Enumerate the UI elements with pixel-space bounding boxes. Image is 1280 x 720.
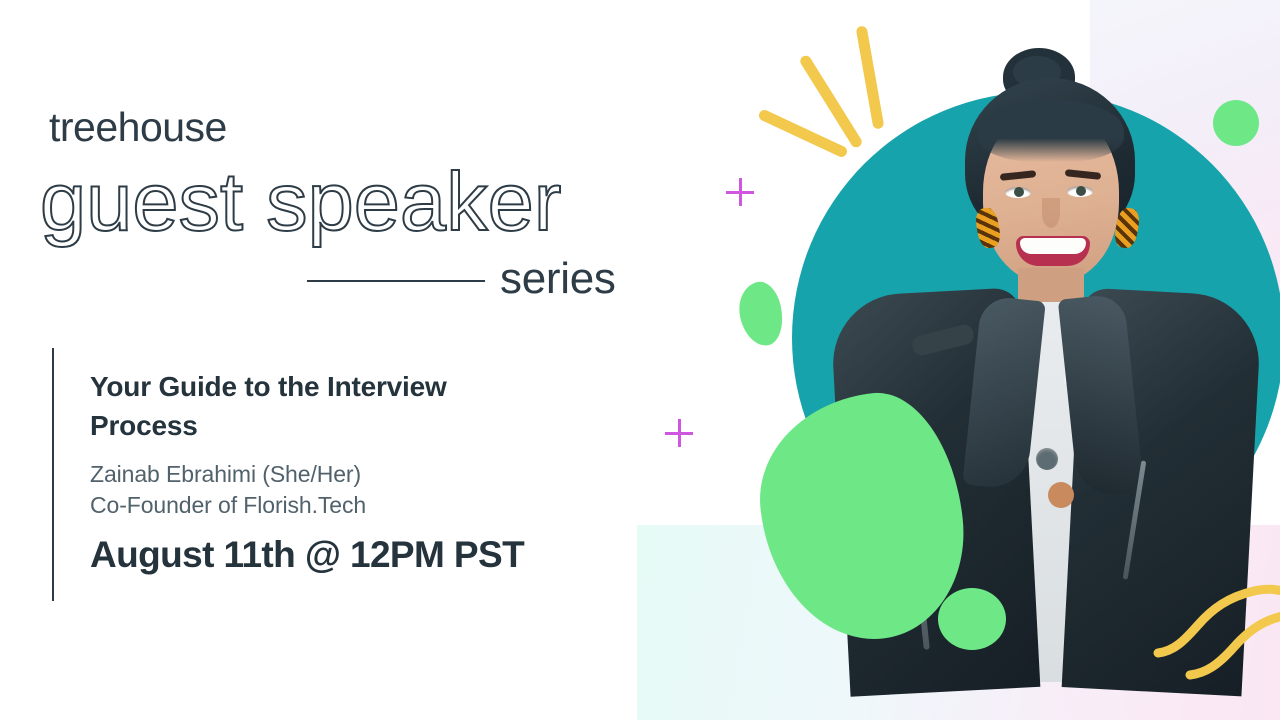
plus-mark-lower (665, 419, 693, 447)
mouth (1016, 236, 1090, 266)
plus-vertical-bar (678, 419, 681, 447)
plus-mark-upper (726, 178, 754, 206)
plus-vertical-bar (739, 178, 742, 206)
green-dot-bottom (938, 588, 1006, 650)
green-blob-small (734, 278, 788, 349)
treehouse-wordmark: treehouse (49, 104, 227, 151)
speaker-name: Zainab Ebrahimi (She/Her) (90, 461, 361, 488)
pupil-left (1014, 187, 1024, 197)
series-label: series (500, 254, 616, 304)
teeth (1020, 238, 1086, 254)
series-divider-rule (307, 280, 485, 282)
text-column: treehouse guest speaker series Your Guid… (0, 0, 660, 720)
talk-title: Your Guide to the Interview Process (90, 368, 540, 445)
headline-guest-speaker: guest speaker (40, 160, 561, 243)
event-datetime: August 11th @ 12PM PST (90, 534, 524, 576)
guest-speaker-promo-slide: treehouse guest speaker series Your Guid… (0, 0, 1280, 720)
nose (1042, 198, 1060, 228)
speaker-role: Co-Founder of Florish.Tech (90, 492, 366, 519)
necklace-pendant (1048, 482, 1074, 508)
yellow-squiggle-lines (1150, 575, 1280, 685)
hairline (978, 100, 1124, 162)
jacket-snap-button (1036, 448, 1058, 470)
vertical-accent-rule (52, 348, 54, 601)
pupil-right (1076, 186, 1086, 196)
